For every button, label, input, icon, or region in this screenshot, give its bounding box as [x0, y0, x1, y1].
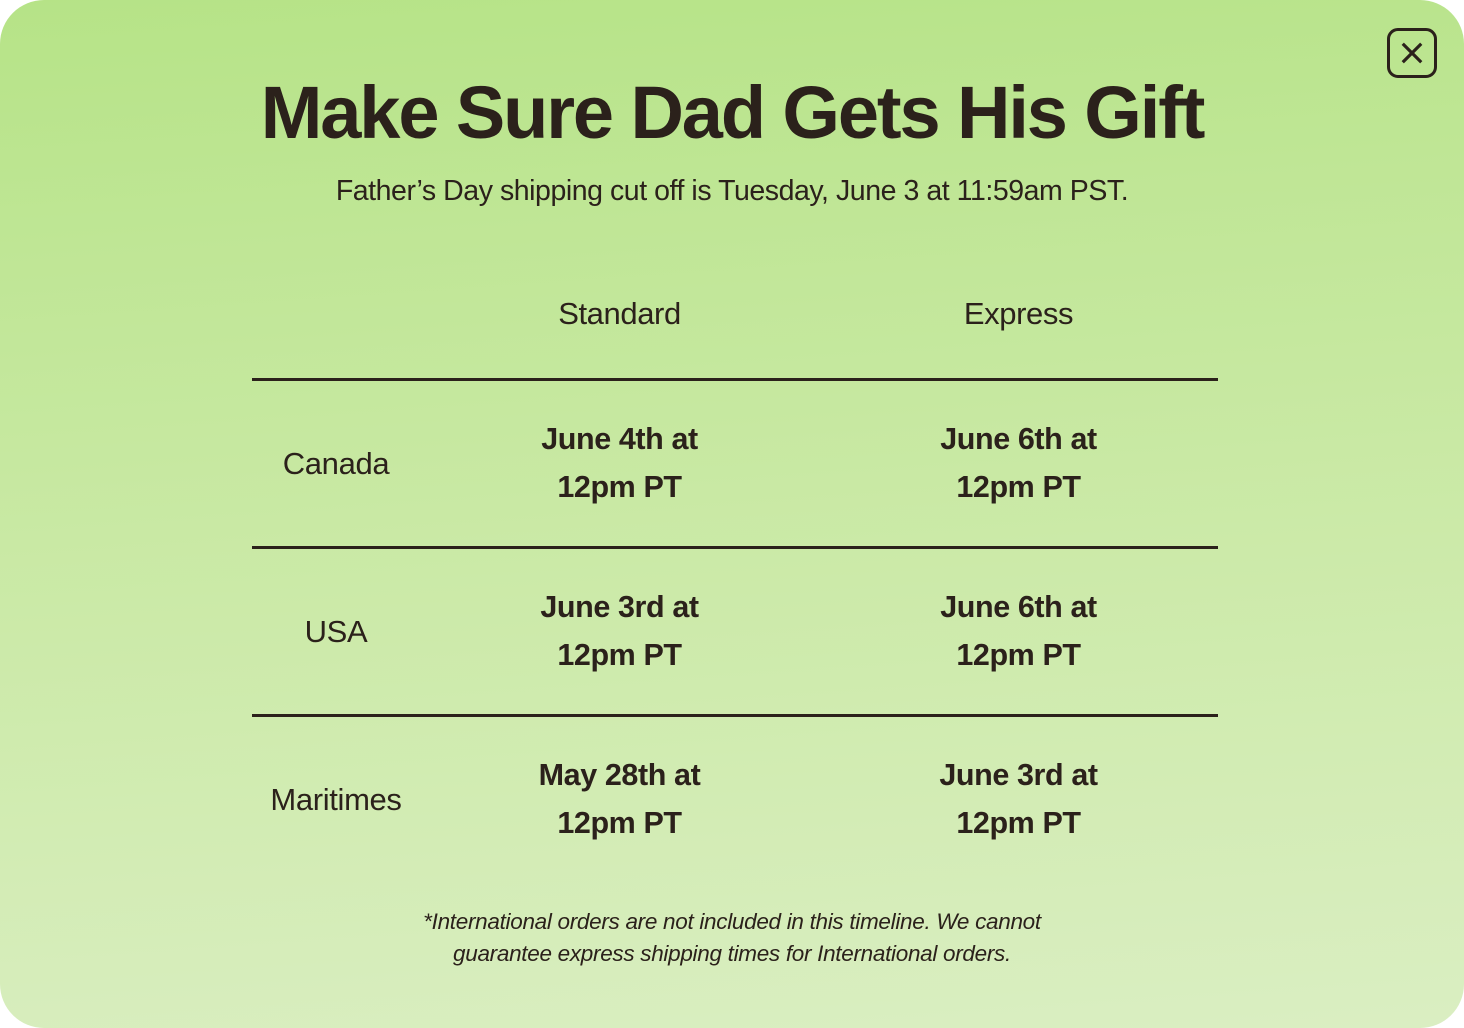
- close-icon[interactable]: [1387, 28, 1437, 78]
- cell-line-1: June 6th at: [820, 584, 1217, 632]
- cell-line-2: 12pm PT: [421, 800, 818, 848]
- column-header-region: [252, 296, 420, 380]
- modal-subtitle: Father’s Day shipping cut off is Tuesday…: [0, 175, 1464, 208]
- cell-maritimes-express: June 3rd at 12pm PT: [819, 716, 1218, 883]
- row-label-canada: Canada: [252, 380, 420, 548]
- row-label-usa: USA: [252, 548, 420, 716]
- cell-line-1: June 3rd at: [421, 584, 818, 632]
- cell-line-1: May 28th at: [421, 752, 818, 800]
- close-x-glyph: [1390, 31, 1434, 75]
- table-header-row: Standard Express: [252, 296, 1218, 380]
- table-row: USA June 3rd at 12pm PT June 6th at 12pm…: [252, 548, 1218, 716]
- cell-line-2: 12pm PT: [421, 632, 818, 680]
- cell-line-1: June 6th at: [820, 416, 1217, 464]
- cell-canada-express: June 6th at 12pm PT: [819, 380, 1218, 548]
- cell-line-2: 12pm PT: [421, 464, 818, 512]
- column-header-express: Express: [819, 296, 1218, 380]
- footnote: *International orders are not included i…: [0, 906, 1464, 970]
- cell-line-2: 12pm PT: [820, 800, 1217, 848]
- shipping-cutoff-modal: Make Sure Dad Gets His Gift Father’s Day…: [0, 0, 1464, 1028]
- cell-maritimes-standard: May 28th at 12pm PT: [420, 716, 819, 883]
- modal-header: Make Sure Dad Gets His Gift Father’s Day…: [0, 76, 1464, 208]
- footnote-line-1: *International orders are not included i…: [0, 906, 1464, 938]
- table-row: Canada June 4th at 12pm PT June 6th at 1…: [252, 380, 1218, 548]
- cell-usa-standard: June 3rd at 12pm PT: [420, 548, 819, 716]
- footnote-line-2: guarantee express shipping times for Int…: [0, 938, 1464, 970]
- shipping-cutoff-table: Standard Express Canada June 4th at 12pm…: [252, 296, 1218, 882]
- table-row: Maritimes May 28th at 12pm PT June 3rd a…: [252, 716, 1218, 883]
- cell-line-1: June 4th at: [421, 416, 818, 464]
- column-header-standard: Standard: [420, 296, 819, 380]
- cell-line-1: June 3rd at: [820, 752, 1217, 800]
- row-label-maritimes: Maritimes: [252, 716, 420, 883]
- table-body: Canada June 4th at 12pm PT June 6th at 1…: [252, 380, 1218, 883]
- table-header: Standard Express: [252, 296, 1218, 380]
- cell-usa-express: June 6th at 12pm PT: [819, 548, 1218, 716]
- cell-line-2: 12pm PT: [820, 464, 1217, 512]
- cell-line-2: 12pm PT: [820, 632, 1217, 680]
- page-title: Make Sure Dad Gets His Gift: [0, 76, 1464, 150]
- cell-canada-standard: June 4th at 12pm PT: [420, 380, 819, 548]
